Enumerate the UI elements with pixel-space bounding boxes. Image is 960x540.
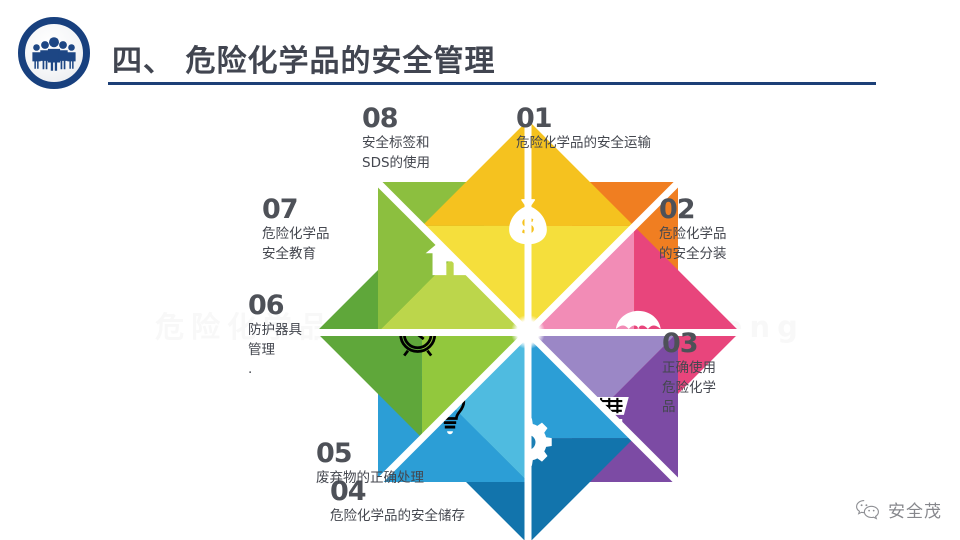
slide-header: 四、 危险化学品的安全管理 (0, 0, 960, 100)
page-title: 四、 危险化学品的安全管理 (112, 36, 495, 80)
caption-text: 危险化学品的安全运输 (516, 134, 651, 154)
caption-text: 废弃物的正确处理 (316, 469, 424, 489)
caption-number: 02 (659, 196, 727, 223)
caption-number: 03 (662, 330, 716, 357)
pinwheel-caption-08: 08安全标签和 SDS的使用 (362, 105, 430, 173)
wechat-icon (855, 499, 881, 521)
caption-number: 05 (316, 440, 424, 467)
wechat-label: 安全茂 (888, 497, 942, 522)
caption-text: 安全标签和 SDS的使用 (362, 134, 430, 173)
caption-text: 危险化学品 的安全分装 (659, 225, 727, 264)
caption-text: 危险化学品的安全储存 (330, 507, 465, 527)
caption-text: 防护器具 管理 . (248, 321, 302, 380)
title-underline (108, 82, 876, 85)
caption-number: 08 (362, 105, 430, 132)
pinwheel-spoke (525, 332, 532, 540)
pinwheel-caption-05: 05废弃物的正确处理 (316, 440, 424, 489)
pinwheel-spoke (313, 329, 528, 336)
pinwheel-caption-01: 01危险化学品的安全运输 (516, 105, 651, 154)
pinwheel-caption-07: 07危险化学品 安全教育 (262, 196, 330, 264)
people-group-icon (18, 17, 90, 89)
wechat-watermark: 安全茂 (855, 497, 942, 522)
caption-number: 01 (516, 105, 651, 132)
caption-text: 正确使用 危险化学 品 (662, 359, 716, 418)
caption-number: 07 (262, 196, 330, 223)
pinwheel-caption-02: 02危险化学品 的安全分装 (659, 196, 727, 264)
pinwheel-caption-06: 06防护器具 管理 . (248, 292, 302, 380)
caption-text: 危险化学品 安全教育 (262, 225, 330, 264)
caption-number: 06 (248, 292, 302, 319)
pinwheel-hub (511, 315, 545, 349)
pinwheel-caption-03: 03正确使用 危险化学 品 (662, 330, 716, 418)
slide-canvas: 四、 危险化学品的安全管理 危险化学品安全管理培训 banjudong 01危险… (0, 0, 960, 540)
